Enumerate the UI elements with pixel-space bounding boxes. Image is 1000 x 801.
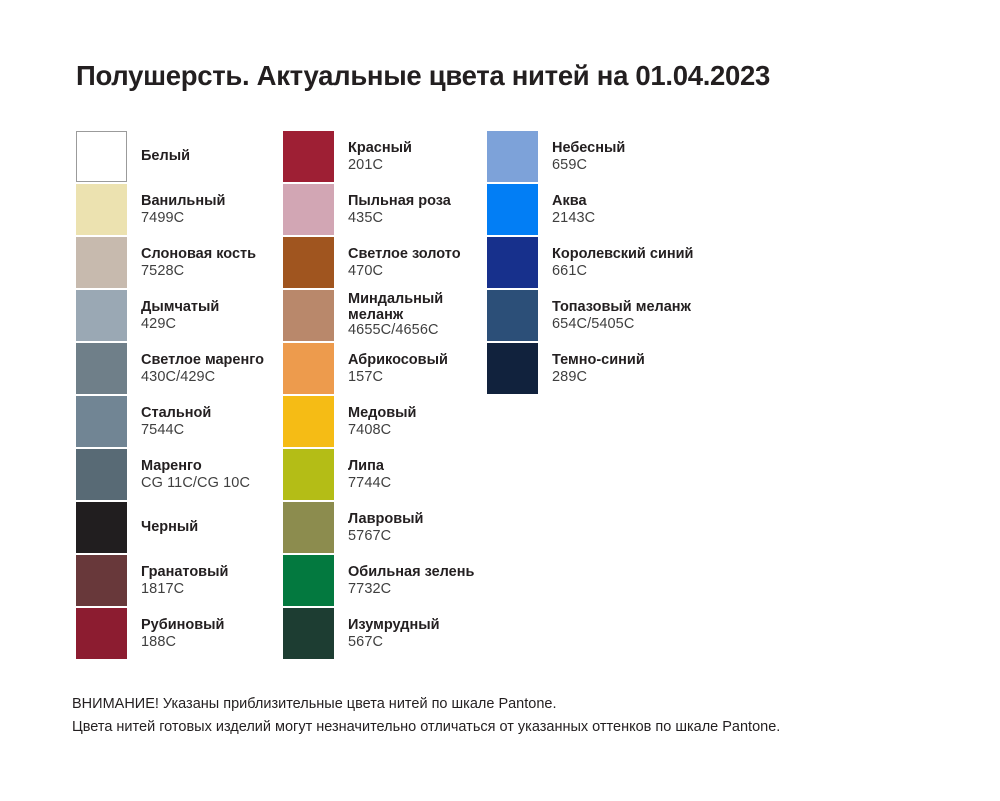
color-text: Ванильный7499C <box>127 184 283 235</box>
color-swatch <box>283 184 334 235</box>
pantone-code: 430C/429C <box>141 369 283 386</box>
color-row: Пыльная роза435C <box>283 184 487 235</box>
pantone-code: 1817C <box>141 581 283 598</box>
color-text: Топазовый меланж654C/5405C <box>538 290 787 341</box>
color-swatch <box>487 237 538 288</box>
color-swatch <box>76 237 127 288</box>
color-row: Топазовый меланж654C/5405C <box>487 290 787 341</box>
pantone-code: 7544C <box>141 422 283 439</box>
pantone-code: CG 11C/CG 10C <box>141 475 283 492</box>
color-name: Обильная зелень <box>348 564 487 581</box>
color-name: Королевский синий <box>552 246 787 263</box>
color-swatch <box>76 184 127 235</box>
color-swatch <box>487 184 538 235</box>
color-text: Изумрудный567C <box>334 608 487 659</box>
color-name: Дымчатый <box>141 299 283 316</box>
color-swatch <box>76 449 127 500</box>
disclaimer-note: ВНИМАНИЕ! Указаны приблизительные цвета … <box>72 693 780 740</box>
pantone-code: 289C <box>552 369 787 386</box>
color-row: Слоновая кость7528C <box>76 237 283 288</box>
color-text: Черный <box>127 502 283 553</box>
color-name: Изумрудный <box>348 617 487 634</box>
color-swatch <box>487 131 538 182</box>
pantone-code: 157C <box>348 369 487 386</box>
pantone-code: 2143C <box>552 210 787 227</box>
color-text: Гранатовый1817C <box>127 555 283 606</box>
color-text: Темно-синий289C <box>538 343 787 394</box>
color-name: Темно-синий <box>552 352 787 369</box>
pantone-code: 661C <box>552 263 787 280</box>
color-text: МаренгоCG 11C/CG 10C <box>127 449 283 500</box>
color-name: Рубиновый <box>141 617 283 634</box>
column-warm: Красный201CПыльная роза435CСветлое золот… <box>283 131 487 659</box>
color-name: Красный <box>348 140 487 157</box>
color-swatch <box>76 290 127 341</box>
color-row: Белый <box>76 131 283 182</box>
color-swatch <box>283 396 334 447</box>
disclaimer-line: ВНИМАНИЕ! Указаны приблизительные цвета … <box>72 693 780 716</box>
color-text: Рубиновый188C <box>127 608 283 659</box>
color-text: Светлое золото470C <box>334 237 487 288</box>
color-row: Изумрудный567C <box>283 608 487 659</box>
color-name: Медовый <box>348 405 487 422</box>
color-text: Слоновая кость7528C <box>127 237 283 288</box>
color-name: Ванильный <box>141 193 283 210</box>
color-row: Липа7744C <box>283 449 487 500</box>
color-swatch <box>76 502 127 553</box>
color-text: Аква2143C <box>538 184 787 235</box>
disclaimer-line: Цвета нитей готовых изделий могут незнач… <box>72 716 780 739</box>
color-text: Обильная зелень7732C <box>334 555 487 606</box>
color-name: Гранатовый <box>141 564 283 581</box>
color-text: Лавровый5767C <box>334 502 487 553</box>
color-chart-page: Полушерсть. Актуальные цвета нитей на 01… <box>0 0 1000 801</box>
pantone-code: 470C <box>348 263 487 280</box>
color-swatch <box>76 131 127 182</box>
color-swatch <box>283 555 334 606</box>
pantone-code: 188C <box>141 634 283 651</box>
column-blues: Небесный659CАква2143CКоролевский синий66… <box>487 131 787 659</box>
pantone-code: 7732C <box>348 581 487 598</box>
color-swatch <box>283 449 334 500</box>
color-row: Черный <box>76 502 283 553</box>
color-text: Липа7744C <box>334 449 487 500</box>
color-name: Липа <box>348 458 487 475</box>
palette-grid: БелыйВанильный7499CСлоновая кость7528CДы… <box>76 131 956 659</box>
column-neutrals: БелыйВанильный7499CСлоновая кость7528CДы… <box>76 131 283 659</box>
color-text: Белый <box>127 131 283 182</box>
color-name: Черный <box>141 519 283 536</box>
color-name: Топазовый меланж <box>552 299 787 316</box>
color-name: Белый <box>141 148 283 165</box>
color-text: Пыльная роза435C <box>334 184 487 235</box>
color-name: Светлое золото <box>348 246 487 263</box>
color-name: Миндальный меланж <box>348 292 487 323</box>
color-row: Медовый7408C <box>283 396 487 447</box>
color-row: Гранатовый1817C <box>76 555 283 606</box>
color-row: Обильная зелень7732C <box>283 555 487 606</box>
color-name: Стальной <box>141 405 283 422</box>
pantone-code: 4655C/4656C <box>348 323 487 338</box>
color-text: Стальной7544C <box>127 396 283 447</box>
color-row: Светлое маренго430C/429C <box>76 343 283 394</box>
color-swatch <box>283 502 334 553</box>
color-text: Абрикосовый157C <box>334 343 487 394</box>
color-swatch <box>283 290 334 341</box>
color-row: Миндальный меланж4655C/4656C <box>283 290 487 341</box>
color-name: Небесный <box>552 140 787 157</box>
color-swatch <box>283 608 334 659</box>
color-swatch <box>487 290 538 341</box>
color-row: Дымчатый429C <box>76 290 283 341</box>
color-row: Королевский синий661C <box>487 237 787 288</box>
color-text: Светлое маренго430C/429C <box>127 343 283 394</box>
pantone-code: 435C <box>348 210 487 227</box>
color-swatch <box>76 396 127 447</box>
pantone-code: 7528C <box>141 263 283 280</box>
color-row: Аква2143C <box>487 184 787 235</box>
color-swatch <box>76 343 127 394</box>
color-text: Дымчатый429C <box>127 290 283 341</box>
color-name: Абрикосовый <box>348 352 487 369</box>
pantone-code: 567C <box>348 634 487 651</box>
color-name: Маренго <box>141 458 283 475</box>
color-row: Лавровый5767C <box>283 502 487 553</box>
color-name: Лавровый <box>348 511 487 528</box>
color-swatch <box>283 343 334 394</box>
color-text: Медовый7408C <box>334 396 487 447</box>
color-text: Небесный659C <box>538 131 787 182</box>
color-name: Светлое маренго <box>141 352 283 369</box>
color-swatch <box>76 608 127 659</box>
color-row: МаренгоCG 11C/CG 10C <box>76 449 283 500</box>
color-swatch <box>283 237 334 288</box>
color-swatch <box>487 343 538 394</box>
color-name: Слоновая кость <box>141 246 283 263</box>
color-row: Стальной7544C <box>76 396 283 447</box>
color-text: Красный201C <box>334 131 487 182</box>
pantone-code: 5767C <box>348 528 487 545</box>
pantone-code: 7408C <box>348 422 487 439</box>
color-swatch <box>283 131 334 182</box>
color-swatch <box>76 555 127 606</box>
page-title: Полушерсть. Актуальные цвета нитей на 01… <box>76 60 770 92</box>
pantone-code: 201C <box>348 157 487 174</box>
color-row: Светлое золото470C <box>283 237 487 288</box>
color-row: Ванильный7499C <box>76 184 283 235</box>
pantone-code: 7499C <box>141 210 283 227</box>
pantone-code: 7744C <box>348 475 487 492</box>
color-row: Небесный659C <box>487 131 787 182</box>
color-row: Абрикосовый157C <box>283 343 487 394</box>
pantone-code: 659C <box>552 157 787 174</box>
color-text: Миндальный меланж4655C/4656C <box>334 290 487 341</box>
color-text: Королевский синий661C <box>538 237 787 288</box>
color-row: Рубиновый188C <box>76 608 283 659</box>
color-row: Темно-синий289C <box>487 343 787 394</box>
color-name: Аква <box>552 193 787 210</box>
pantone-code: 429C <box>141 316 283 333</box>
color-name: Пыльная роза <box>348 193 487 210</box>
color-row: Красный201C <box>283 131 487 182</box>
pantone-code: 654C/5405C <box>552 316 787 333</box>
